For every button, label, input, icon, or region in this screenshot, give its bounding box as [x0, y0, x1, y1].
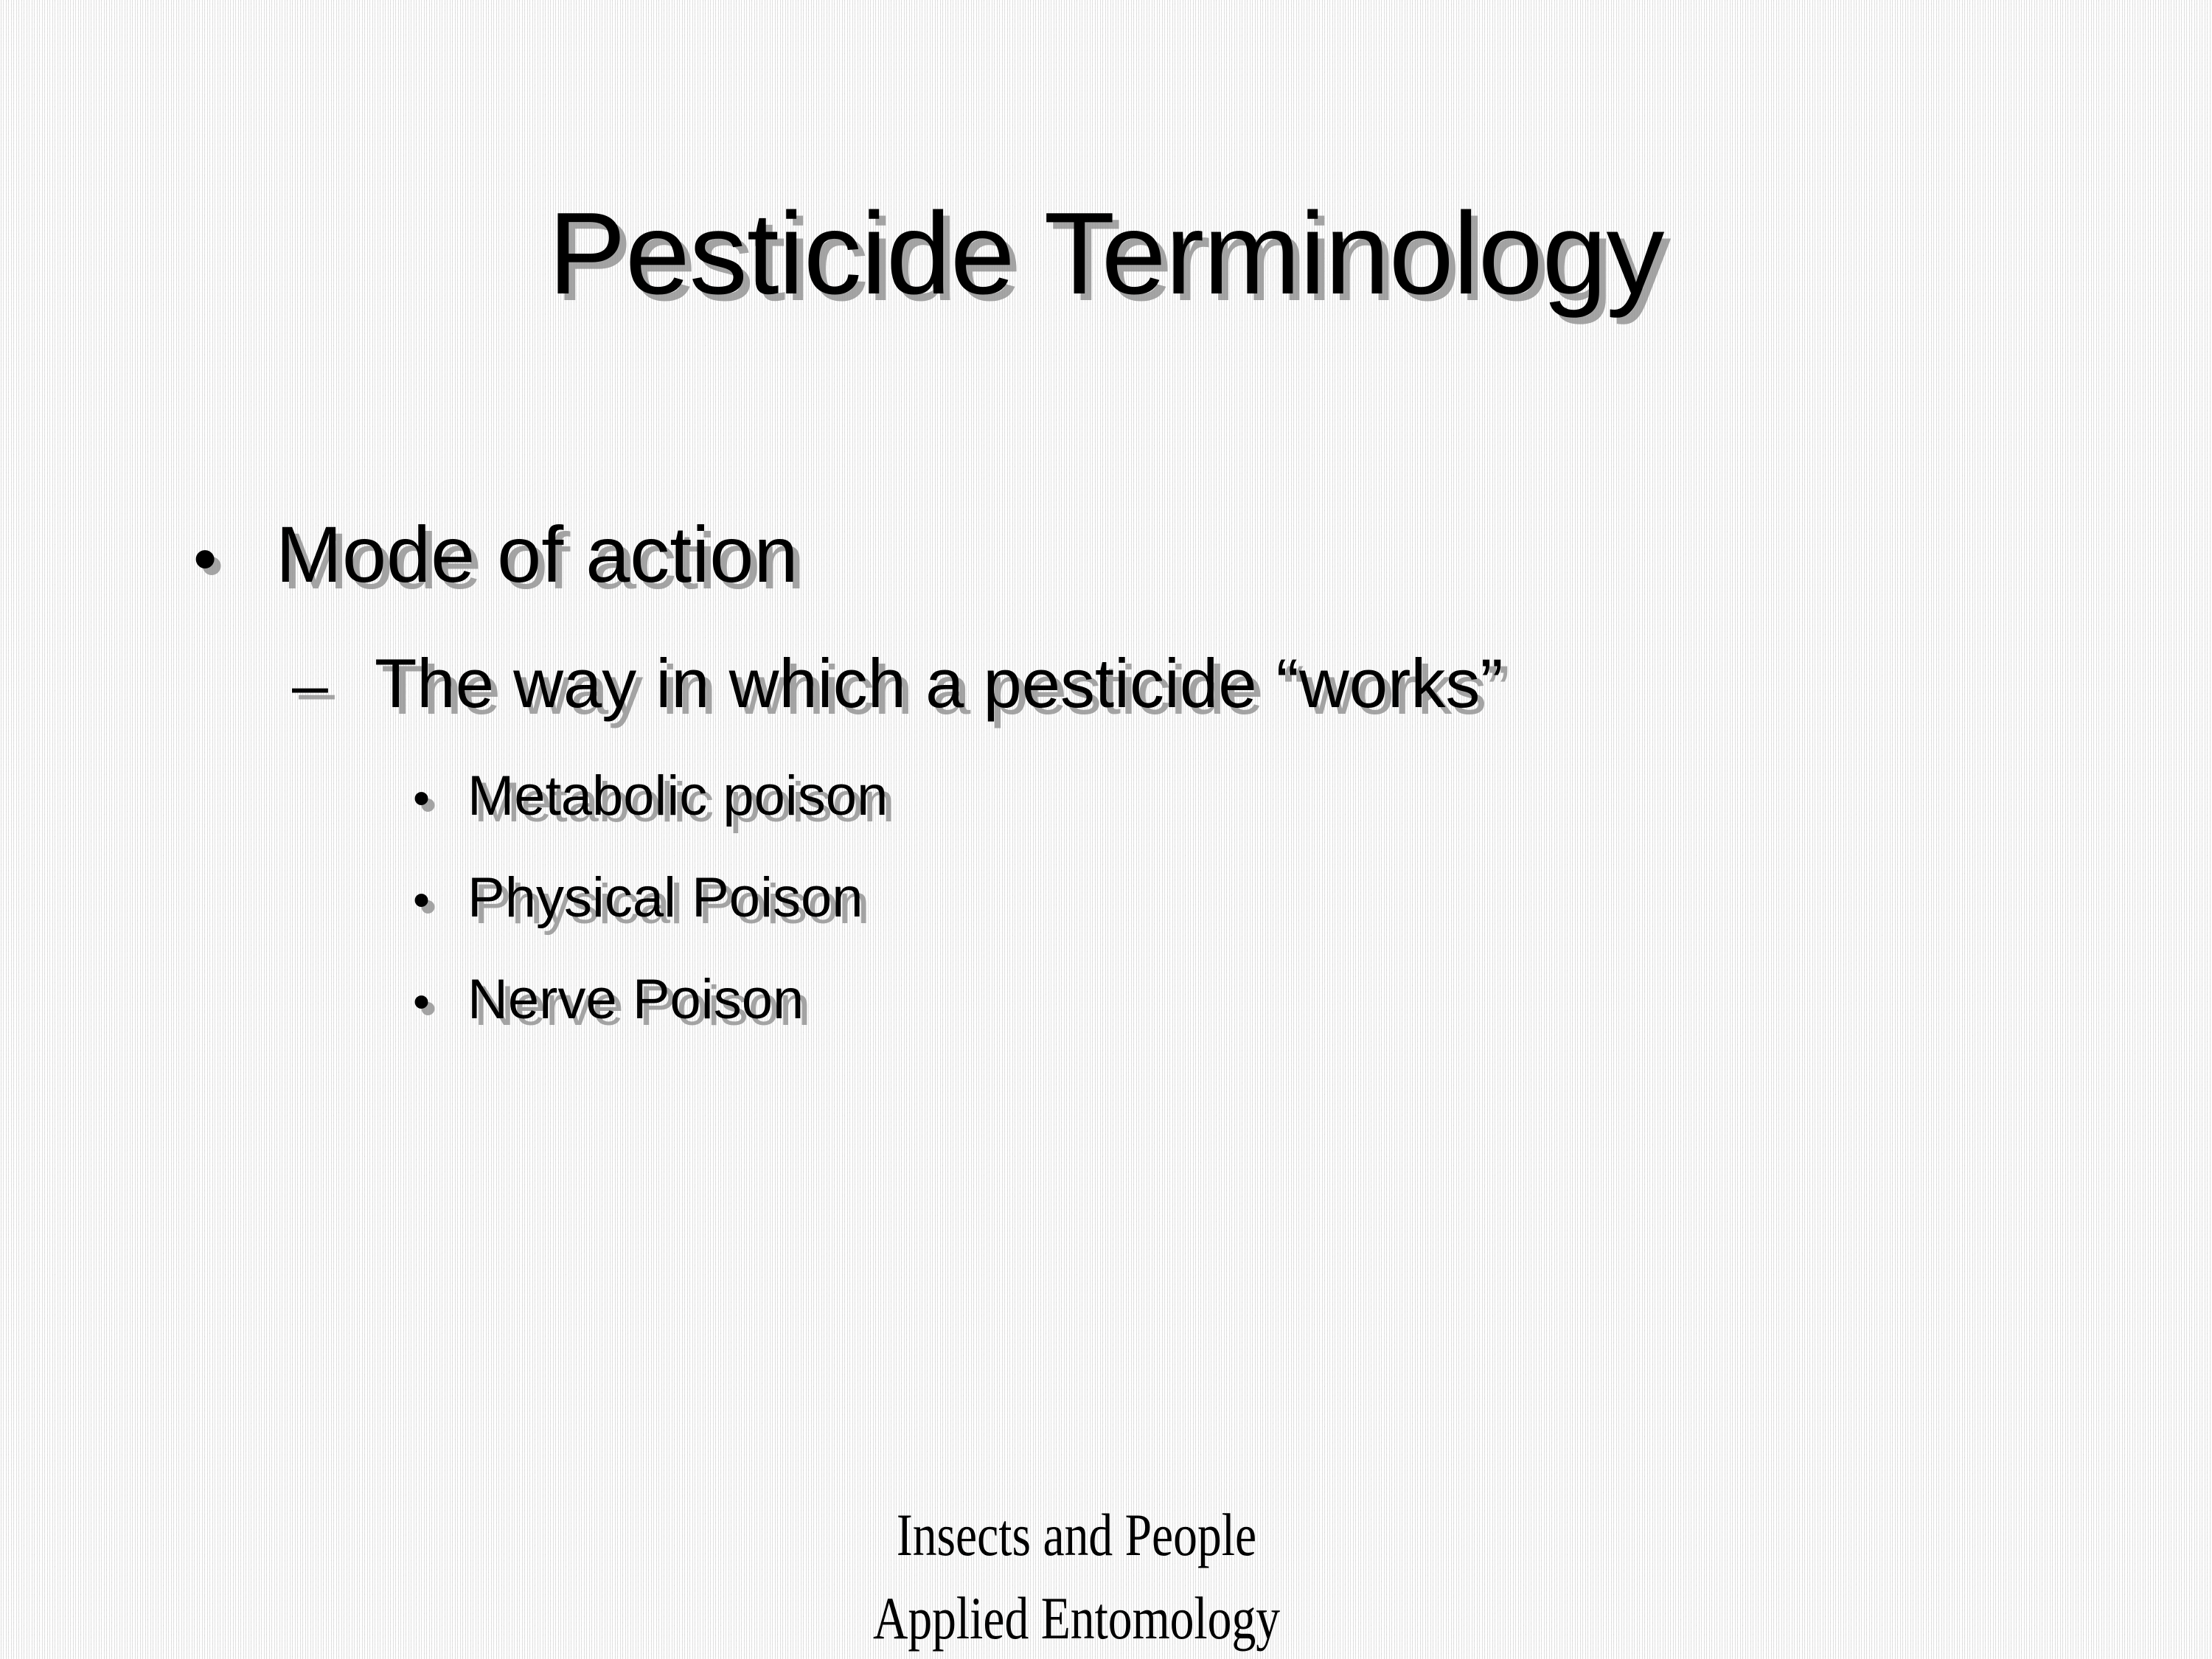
slide-content: Pesticide Terminology • Mode of action –…	[0, 0, 2212, 1659]
bullet-marker-icon: •	[413, 875, 467, 924]
footer-line-subject: Applied Entomology	[215, 1576, 1938, 1659]
bullet-marker-icon: •	[193, 525, 276, 593]
slide-title: Pesticide Terminology	[0, 195, 2212, 312]
presentation-slide: Pesticide Terminology • Mode of action –…	[0, 0, 2212, 1659]
bullet-item-nerve-poison: • Nerve Poison	[413, 972, 804, 1028]
bullet-item-physical-poison: • Physical Poison	[413, 870, 863, 926]
slide-footer: Insects and People Applied Entomology	[0, 1493, 2153, 1659]
bullet-item-metabolic-poison: • Metabolic poison	[413, 768, 888, 824]
bullet-text: Nerve Poison	[467, 972, 804, 1028]
bullet-text: Physical Poison	[467, 870, 863, 926]
dash-marker-icon: –	[292, 653, 375, 717]
bullet-item-the-way-in-which-a-pesticide-works: – The way in which a pesticide “works”	[292, 649, 1503, 718]
footer-line-course-title: Insects and People	[215, 1493, 1938, 1576]
bullet-text: Metabolic poison	[467, 768, 888, 824]
bullet-text: The way in which a pesticide “works”	[375, 649, 1503, 718]
bullet-marker-icon: •	[413, 773, 467, 822]
bullet-text: Mode of action	[276, 515, 798, 594]
bullet-item-mode-of-action: • Mode of action	[193, 515, 798, 594]
bullet-marker-icon: •	[413, 977, 467, 1026]
